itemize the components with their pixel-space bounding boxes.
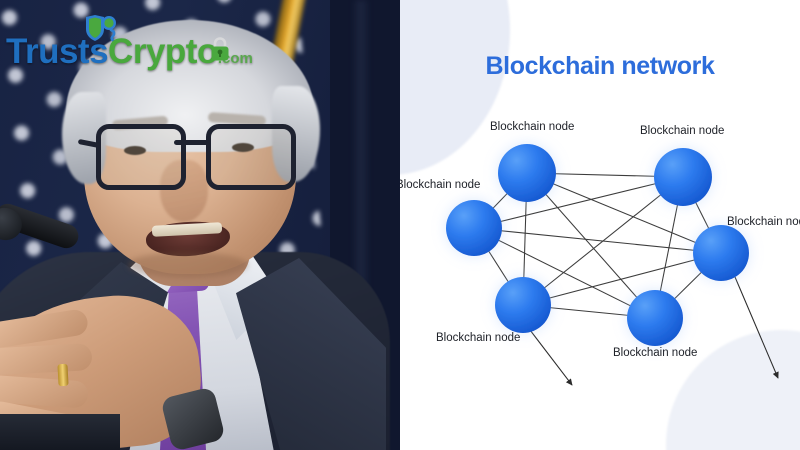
brand-part-crypto: Crypto xyxy=(108,32,218,71)
node-label: Blockchain node xyxy=(436,332,520,344)
eyeglasses-icon xyxy=(96,124,288,182)
node-label: Blockchain nod xyxy=(727,216,800,228)
glasses-bridge xyxy=(174,140,210,145)
network-node[interactable] xyxy=(627,290,683,346)
padlock-icon xyxy=(209,36,231,62)
brand-part-trusts: Trusts xyxy=(6,32,108,71)
network-edge xyxy=(474,228,721,253)
lens-right xyxy=(206,124,296,190)
lens-left xyxy=(96,124,186,190)
node-label: Blockchain node xyxy=(490,121,574,133)
network-outbound-arrow xyxy=(735,277,778,378)
wedding-ring xyxy=(57,364,68,386)
screenshot-root: TrustsCrypto.com Blockchain network xyxy=(0,0,800,450)
node-label: Blockchain node xyxy=(400,179,480,191)
network-node[interactable] xyxy=(446,200,502,256)
network-node[interactable] xyxy=(693,225,749,281)
network-node[interactable] xyxy=(498,144,556,202)
network-node[interactable] xyxy=(495,277,551,333)
network-node[interactable] xyxy=(654,148,712,206)
node-label: Blockchain node xyxy=(613,347,697,359)
node-label: Blockchain node xyxy=(640,125,724,137)
podium xyxy=(0,414,120,450)
network-outbound-arrow xyxy=(530,330,572,385)
network-edge xyxy=(523,253,721,305)
site-watermark-logo[interactable]: TrustsCrypto.com xyxy=(4,14,244,70)
chin-shadow xyxy=(128,252,248,278)
blockchain-diagram-panel: Blockchain network xyxy=(400,0,800,450)
